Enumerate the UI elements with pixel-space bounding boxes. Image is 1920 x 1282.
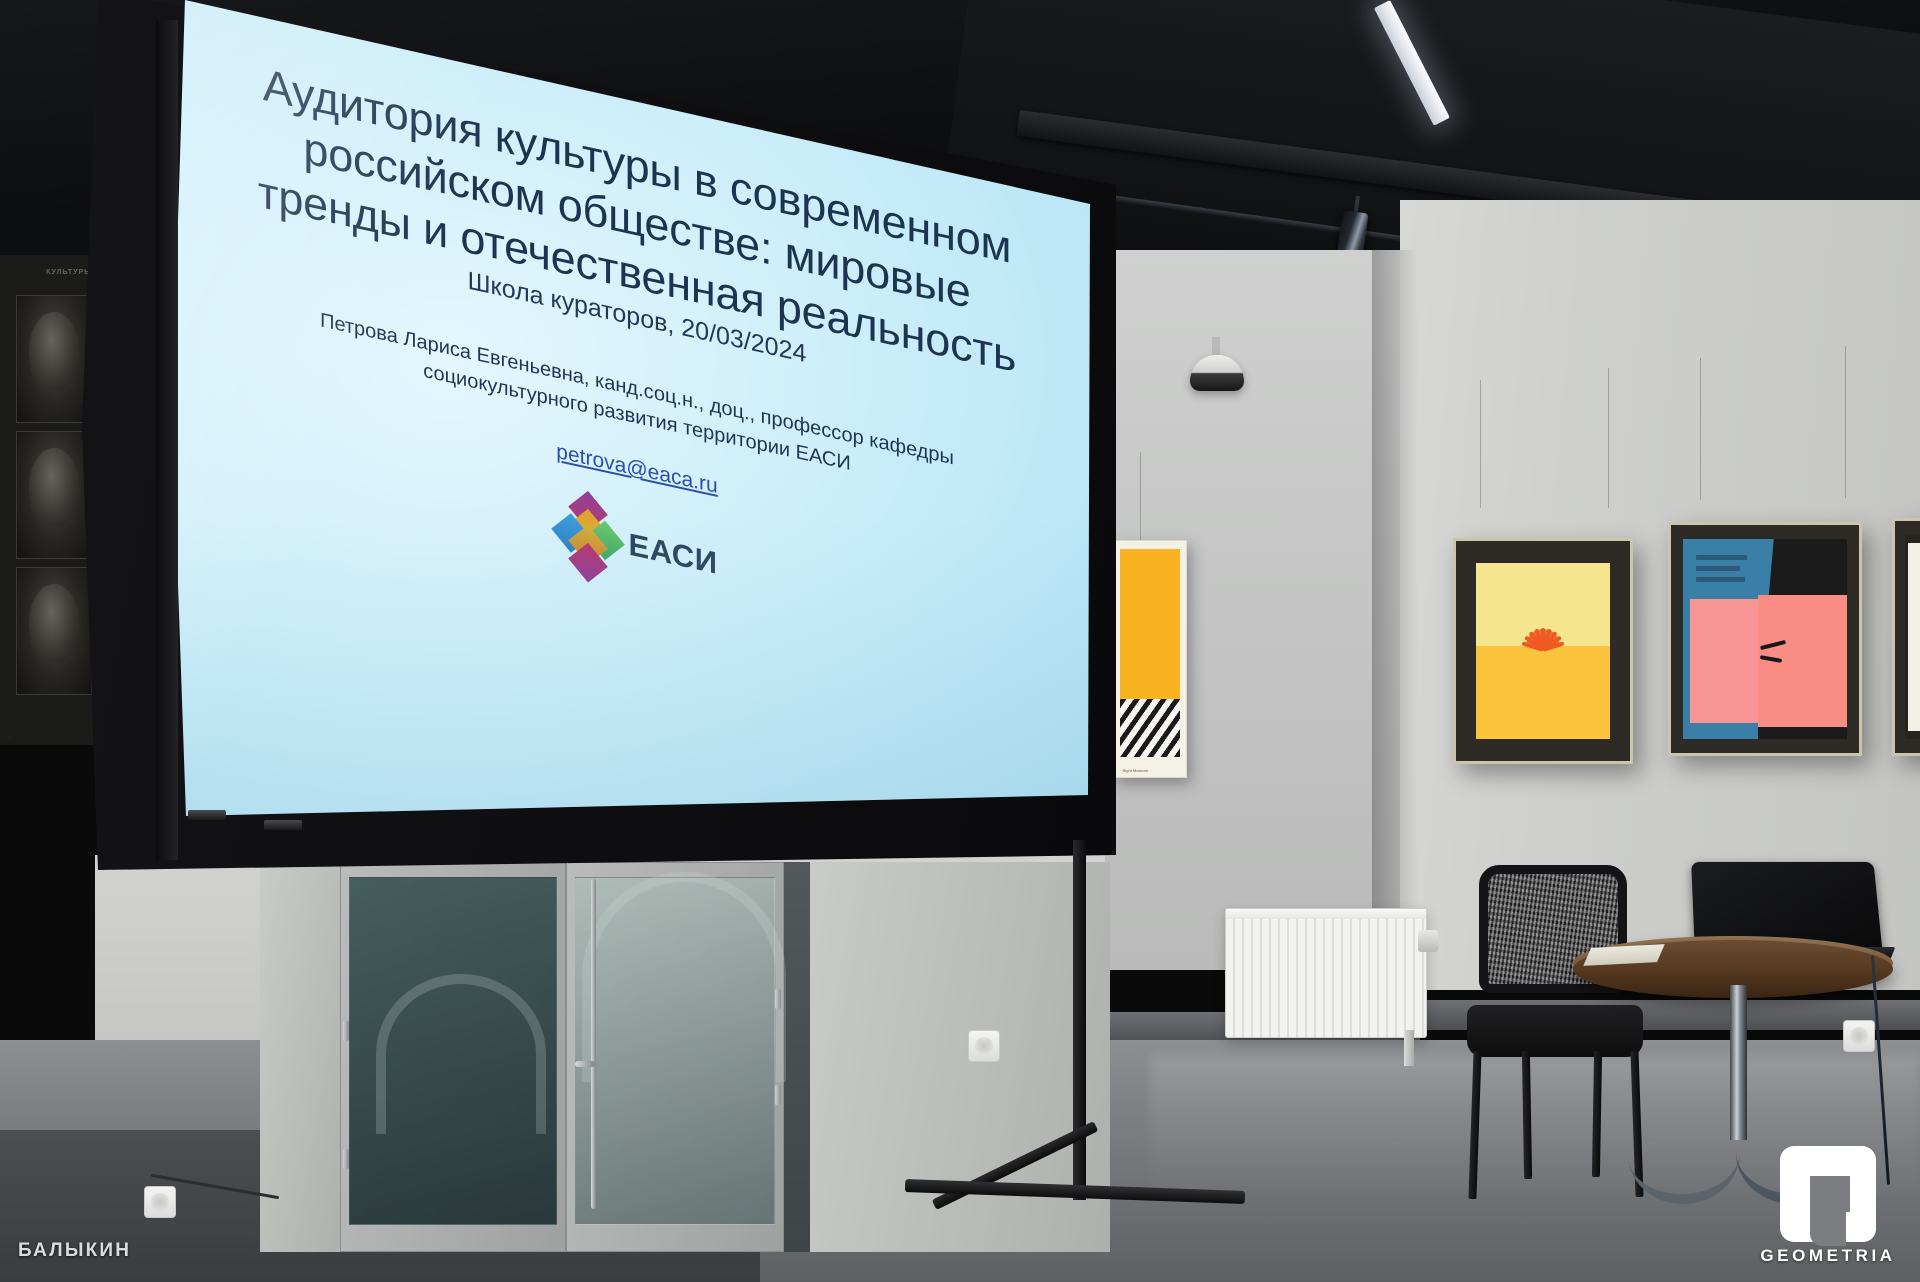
screenshot-canvas: КУЛЬТУРЫ · · · · · Right Museum — [0, 0, 1920, 1282]
radiator-valve — [1418, 930, 1438, 952]
door-hinge-icon — [343, 1021, 349, 1041]
artwork-pink-blue-poster — [1668, 522, 1862, 756]
power-socket[interactable] — [968, 1030, 1000, 1062]
chair-seat — [1467, 1005, 1643, 1057]
artwork-hanging-wire — [1608, 368, 1609, 508]
wall-corner-shadow — [1372, 250, 1418, 990]
photographer-watermark: БАЛЫКИН — [18, 1240, 131, 1262]
slide-email-link[interactable]: petrova@eaca.ru — [556, 440, 717, 499]
door-handle-icon[interactable] — [591, 879, 596, 1209]
artwork-hanging-wire — [1700, 358, 1701, 500]
door-latch-icon[interactable] — [575, 1061, 595, 1067]
chair-leg — [1522, 1051, 1532, 1179]
wall-radiator — [1225, 908, 1427, 1038]
dome-security-camera-icon — [1190, 355, 1244, 409]
power-socket[interactable] — [1843, 1020, 1875, 1052]
geometria-logo-icon — [1780, 1146, 1876, 1242]
power-socket[interactable] — [144, 1186, 176, 1218]
arch-reflection — [376, 974, 546, 1134]
room-scene: КУЛЬТУРЫ · · · · · Right Museum — [0, 0, 1920, 1282]
artwork-hanging-wire — [1480, 380, 1481, 508]
door-hinge-icon — [775, 1085, 781, 1105]
wall-side-panel — [260, 862, 344, 1252]
door-leaf-left[interactable] — [340, 862, 566, 1252]
presentation-slide: Аудитория культуры в современном российс… — [172, 0, 1102, 1021]
artwork-right-edge-frame — [1892, 518, 1920, 756]
door-hinge-icon — [775, 989, 781, 1009]
brand-watermark: GEOMETRIA — [1758, 1146, 1898, 1266]
chair-leg — [1468, 1051, 1481, 1199]
screen-clip-icon — [188, 810, 226, 820]
radiator-pipe — [1404, 1030, 1414, 1066]
mesh-back-chair[interactable] — [1465, 865, 1645, 1195]
screen-clip-icon — [264, 820, 302, 830]
artwork-hanging-wire — [1845, 346, 1846, 498]
door-glass-panel — [349, 877, 557, 1225]
artwork-hanging-wire — [1140, 452, 1141, 542]
screen-left-post — [156, 20, 178, 860]
sun-rays-icon — [1515, 622, 1571, 650]
projection-screen: Аудитория культуры в современном российс… — [68, 0, 1123, 870]
artwork-corner-yellow-stripe-poster: · Right Museum — [1113, 540, 1187, 778]
chair-leg — [1592, 1051, 1602, 1177]
brand-watermark-text: GEOMETRIA — [1758, 1246, 1898, 1266]
door-hinge-icon — [343, 1149, 349, 1169]
artwork-credit-text: · Right Museum — [1120, 768, 1148, 773]
easi-logo-text: ЕАСИ — [629, 527, 718, 582]
artwork-text-block — [1696, 555, 1752, 588]
artwork-yellow-sunrise-print — [1453, 538, 1633, 764]
easi-logo-mark-icon — [557, 490, 619, 582]
screen-stand-post — [1073, 840, 1086, 1200]
